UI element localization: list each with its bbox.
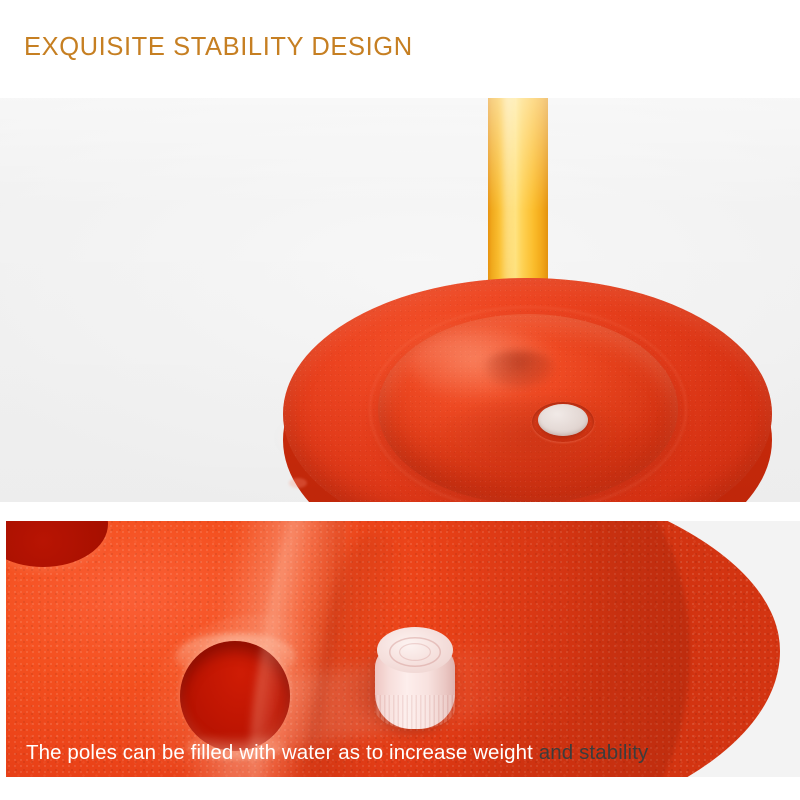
fill-cap <box>538 404 588 436</box>
macro-fill-cap <box>375 627 455 733</box>
panel-divider <box>0 502 800 521</box>
bottom-white-margin <box>0 777 800 800</box>
left-white-margin <box>0 521 6 777</box>
page-title: EXQUISITE STABILITY DESIGN <box>24 33 413 62</box>
macro-fill-cap-ribs <box>375 695 455 729</box>
caption-segment-on-red: The poles can be filled with water as to… <box>26 741 533 764</box>
red-base-disc <box>283 278 772 502</box>
caption-text: The poles can be filled with water as to… <box>26 741 648 765</box>
dome-shading <box>433 398 633 490</box>
caption-segment-on-light: and stability <box>533 741 648 764</box>
pole-base-shadow <box>482 350 556 390</box>
header-band: EXQUISITE STABILITY DESIGN <box>0 0 800 98</box>
macro-fill-cap-ring-inner <box>399 643 431 661</box>
base-rim-notch-left <box>289 478 307 488</box>
product-feature-page: EXQUISITE STABILITY DESIGN <box>0 0 800 800</box>
top-photo-panel <box>0 98 800 502</box>
